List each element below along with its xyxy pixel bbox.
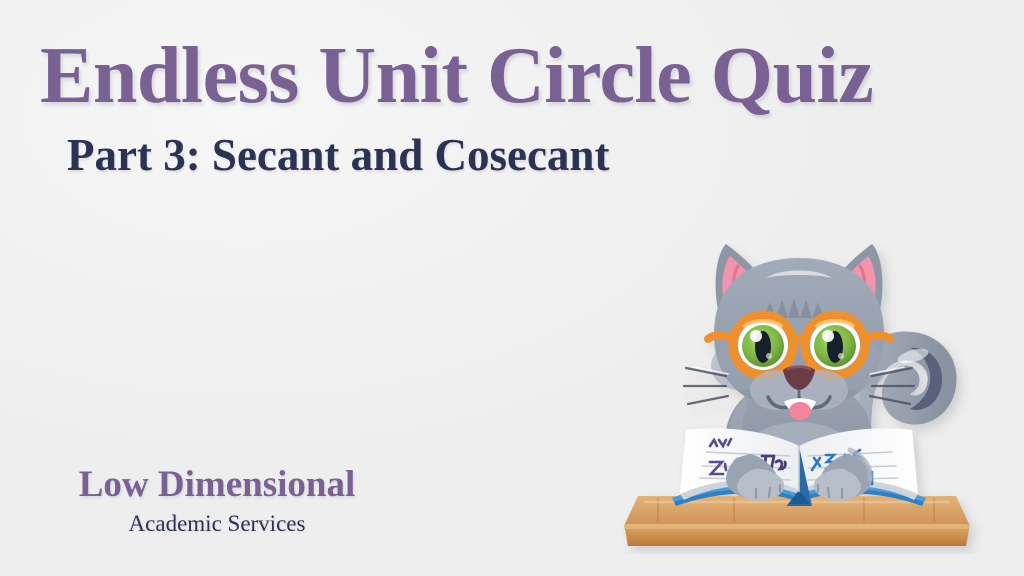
logo-primary-text: Low Dimensional xyxy=(62,466,372,505)
slide-canvas: Endless Unit Circle Quiz Part 3: Secant … xyxy=(0,0,1024,576)
brand-logo: Low Dimensional Academic Services xyxy=(62,466,372,536)
page-title: Endless Unit Circle Quiz xyxy=(40,36,873,116)
page-subtitle: Part 3: Secant and Cosecant xyxy=(67,133,609,178)
cat-reading-book-illustration xyxy=(614,206,984,554)
logo-secondary-text: Academic Services xyxy=(62,512,372,536)
